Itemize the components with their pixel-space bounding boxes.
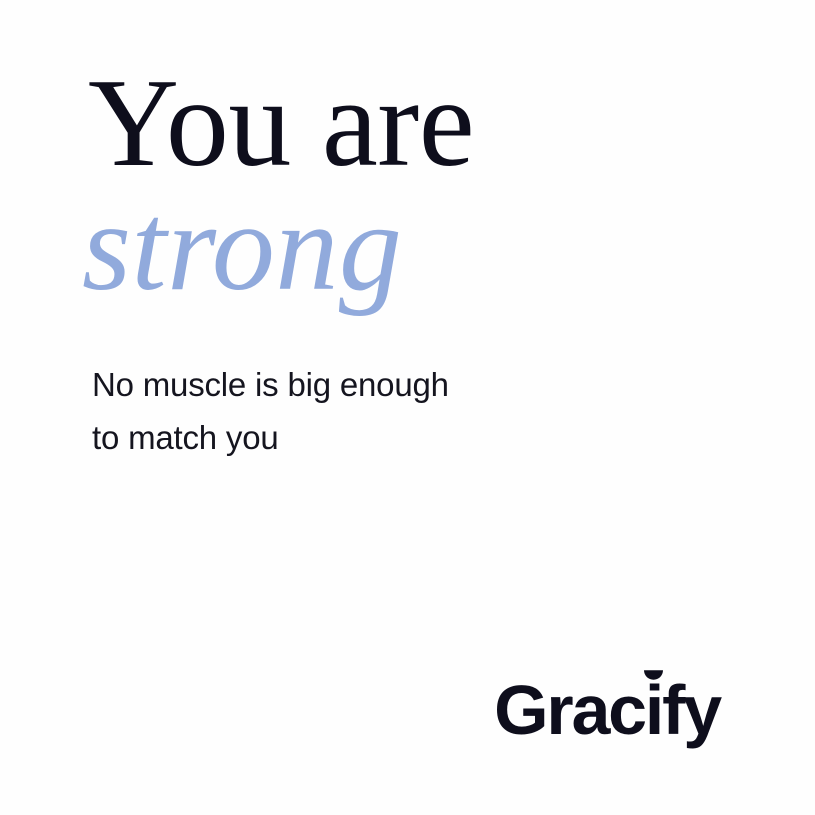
subcopy-line-one: No muscle is big enough [92,358,612,411]
subcopy: No muscle is big enough to match you [92,358,612,464]
brand-logo: Gracify [494,675,720,745]
headline-line-one: You are [88,62,728,186]
quote-card: You are strong No muscle is big enough t… [0,0,815,815]
logo-wordmark: Gracify [494,675,720,745]
headline-line-two-emphasis: strong [82,186,728,310]
subcopy-line-two: to match you [92,411,612,464]
headline: You are strong [88,62,728,310]
